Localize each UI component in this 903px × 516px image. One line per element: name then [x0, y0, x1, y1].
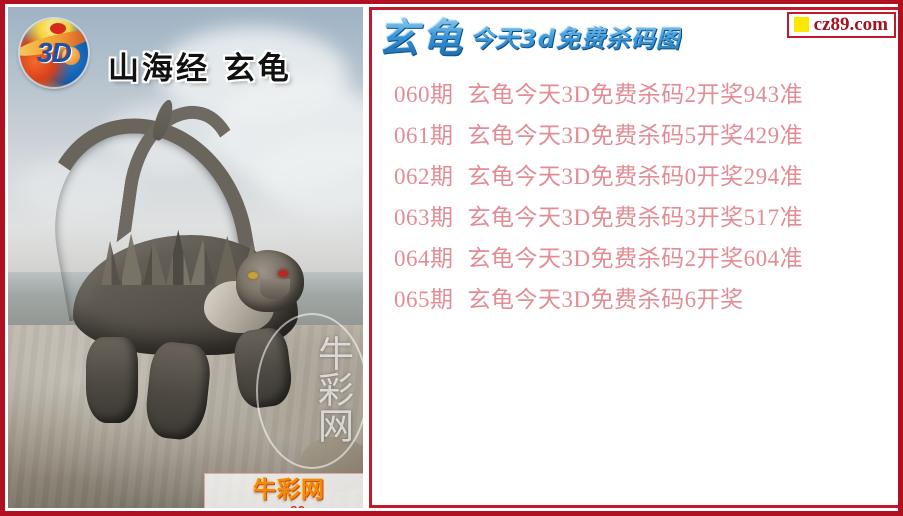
header-brand: 玄龟: [378, 14, 466, 64]
panel-header: 玄龟今天3d免费杀码图: [378, 14, 681, 66]
row-period: 062期: [394, 164, 454, 189]
row-body: 玄龟今天3D免费杀码5开奖429准: [468, 123, 804, 148]
logo-text: 3D: [20, 37, 88, 69]
row-body: 玄龟今天3D免费杀码0开奖294准: [468, 164, 804, 189]
page-title: 山海经 玄龟: [108, 43, 292, 88]
result-list: 060期玄龟今天3D免费杀码2开奖943准 061期玄龟今天3D免费杀码5开奖4…: [372, 74, 898, 320]
site-watermark-url: www.cz89.com: [205, 503, 363, 508]
left-image-panel: 3D 山海经 玄龟 牛彩网 牛彩网 www.cz89.com: [8, 7, 363, 508]
site-watermark-logo: 牛彩网: [211, 476, 363, 504]
row-body: 玄龟今天3D免费杀码6开奖: [468, 287, 744, 312]
poster-root: 3D 山海经 玄龟 牛彩网 牛彩网 www.cz89.com 玄龟今天3d免费杀…: [0, 0, 903, 516]
site-watermark: 牛彩网 www.cz89.com: [204, 473, 363, 508]
list-item[interactable]: 061期玄龟今天3D免费杀码5开奖429准: [372, 115, 898, 156]
list-item[interactable]: 063期玄龟今天3D免费杀码3开奖517准: [372, 197, 898, 238]
cz89-badge[interactable]: cz89.com: [787, 12, 896, 38]
row-period: 064期: [394, 246, 454, 271]
3d-lottery-logo-icon: 3D: [20, 19, 88, 87]
turtle-leg: [86, 337, 138, 423]
header-subtitle: 今天3d免费杀码图: [466, 14, 681, 64]
list-item[interactable]: 065期玄龟今天3D免费杀码6开奖: [372, 279, 898, 320]
row-period: 065期: [394, 287, 454, 312]
badge-square-icon: [794, 17, 809, 32]
row-body: 玄龟今天3D免费杀码3开奖517准: [468, 205, 804, 230]
turtle-eye-left: [248, 272, 258, 279]
right-content-panel: 玄龟今天3d免费杀码图 cz89.com 060期玄龟今天3D免费杀码2开奖94…: [369, 7, 901, 508]
row-period: 063期: [394, 205, 454, 230]
logo-red-cap: [50, 23, 66, 34]
list-item[interactable]: 064期玄龟今天3D免费杀码2开奖604准: [372, 238, 898, 279]
row-body: 玄龟今天3D免费杀码2开奖943准: [468, 82, 804, 107]
row-period: 060期: [394, 82, 454, 107]
row-period: 061期: [394, 123, 454, 148]
badge-label: cz89.com: [814, 15, 888, 34]
list-item[interactable]: 062期玄龟今天3D免费杀码0开奖294准: [372, 156, 898, 197]
list-item[interactable]: 060期玄龟今天3D免费杀码2开奖943准: [372, 74, 898, 115]
turtle-eye-right: [278, 270, 288, 277]
row-body: 玄龟今天3D免费杀码2开奖604准: [468, 246, 804, 271]
